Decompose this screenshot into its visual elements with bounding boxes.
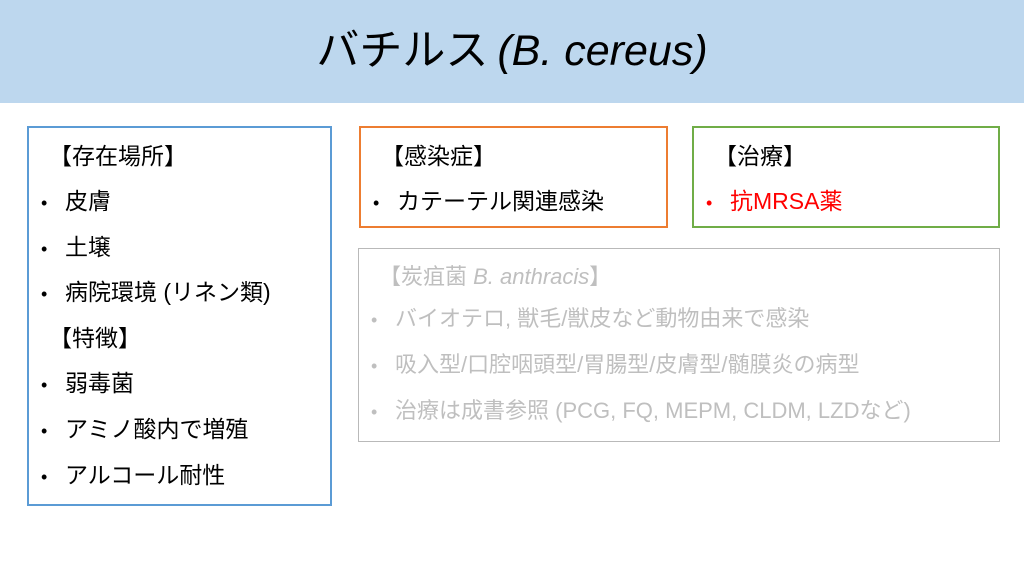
- habitat-box: 【存在場所】 • 皮膚 • 土壌 • 病院環境 (リネン類) 【特徴】 • 弱毒…: [27, 126, 332, 506]
- list-item-label: 土壌: [65, 236, 111, 259]
- bullet-icon: •: [41, 466, 65, 489]
- list-item-label: 病院環境 (リネン類): [65, 281, 271, 304]
- list-item: • 吸入型/口腔咽頭型/胃腸型/皮膚型/髄膜炎の病型: [371, 353, 859, 378]
- treatment-box: 【治療】 • 抗MRSA薬: [692, 126, 1000, 228]
- list-item: • 治療は成書参照 (PCG, FQ, MEPM, CLDM, LZDなど): [371, 399, 911, 424]
- list-item: • 土壌: [41, 236, 111, 261]
- bullet-icon: •: [373, 192, 397, 215]
- bullet-icon: •: [41, 238, 65, 261]
- list-item-label: カテーテル関連感染: [397, 190, 604, 213]
- list-item-label: アルコール耐性: [65, 464, 225, 487]
- anthrax-box: 【炭疽菌 B. anthracis】 • バイオテロ, 獣毛/獣皮など動物由来で…: [358, 248, 1000, 442]
- list-item: • バイオテロ, 獣毛/獣皮など動物由来で感染: [371, 307, 809, 332]
- list-item: • アミノ酸内で増殖: [41, 418, 249, 443]
- list-item: • 病院環境 (リネン類): [41, 281, 271, 306]
- page-title-latin: (B. cereus): [488, 28, 707, 75]
- characteristics-heading: 【特徴】: [49, 327, 141, 350]
- bullet-icon: •: [371, 401, 395, 424]
- page-title-japanese: バチルス: [316, 28, 488, 75]
- list-item: • アルコール耐性: [41, 464, 225, 489]
- bullet-icon: •: [706, 192, 730, 215]
- infection-box: 【感染症】 • カテーテル関連感染: [359, 126, 668, 228]
- bullet-icon: •: [41, 420, 65, 443]
- habitat-heading: 【存在場所】: [49, 145, 187, 168]
- list-item-label: 抗MRSA薬: [730, 190, 842, 213]
- infection-heading: 【感染症】: [381, 145, 496, 168]
- anthrax-heading: 【炭疽菌 B. anthracis】: [379, 265, 611, 288]
- anthrax-heading-latin: B. anthracis: [473, 264, 589, 289]
- list-item: • 弱毒菌: [41, 372, 134, 397]
- bullet-icon: •: [371, 309, 395, 332]
- bullet-icon: •: [41, 283, 65, 306]
- bullet-icon: •: [41, 192, 65, 215]
- list-item: • 抗MRSA薬: [706, 190, 842, 215]
- bullet-icon: •: [41, 374, 65, 397]
- list-item: • 皮膚: [41, 190, 111, 215]
- list-item-label: 弱毒菌: [65, 372, 134, 395]
- list-item: • カテーテル関連感染: [373, 190, 604, 215]
- bullet-icon: •: [371, 355, 395, 378]
- anthrax-heading-suffix: 】: [589, 264, 611, 289]
- page-title: バチルス (B. cereus): [0, 0, 1024, 103]
- list-item-label: 吸入型/口腔咽頭型/胃腸型/皮膚型/髄膜炎の病型: [395, 353, 859, 376]
- list-item-label: 治療は成書参照 (PCG, FQ, MEPM, CLDM, LZDなど): [395, 399, 911, 422]
- treatment-heading: 【治療】: [714, 145, 806, 168]
- anthrax-heading-prefix: 【炭疽菌: [379, 264, 473, 289]
- list-item-label: 皮膚: [65, 190, 111, 213]
- list-item-label: アミノ酸内で増殖: [65, 418, 249, 441]
- slide: バチルス (B. cereus) 【存在場所】 • 皮膚 • 土壌 • 病院環境…: [0, 0, 1024, 576]
- list-item-label: バイオテロ, 獣毛/獣皮など動物由来で感染: [395, 307, 809, 330]
